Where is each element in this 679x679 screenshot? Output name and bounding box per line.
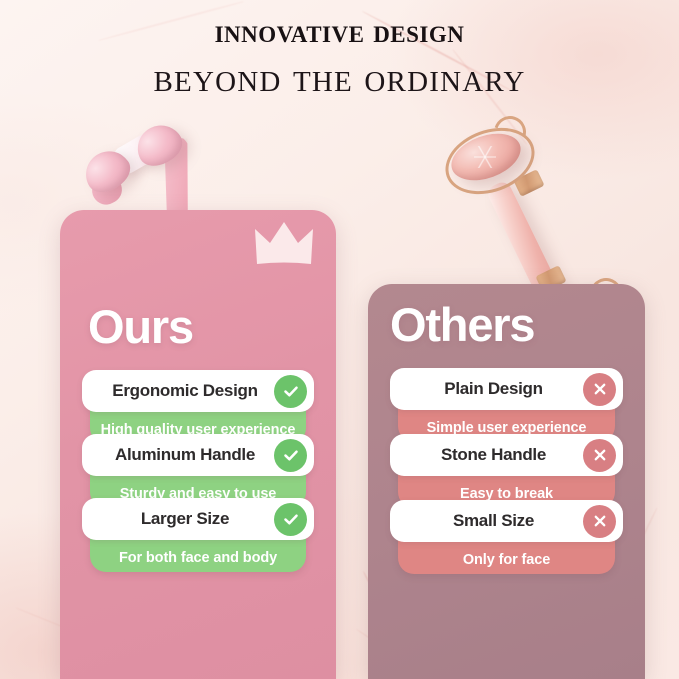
feature-label: Larger Size bbox=[82, 509, 274, 529]
feature-row: For both face and body Larger Size bbox=[82, 498, 314, 540]
feature-pill: Stone Handle bbox=[390, 434, 623, 476]
feature-list-others: Simple user experience Plain Design Easy… bbox=[390, 368, 623, 566]
infographic-canvas: Innovative Design Beyond the ordinary Ou… bbox=[0, 0, 679, 679]
headline-secondary: Beyond the ordinary bbox=[0, 53, 679, 101]
crown-icon bbox=[254, 220, 314, 266]
feature-pill: Aluminum Handle bbox=[82, 434, 314, 476]
feature-label: Plain Design bbox=[390, 379, 583, 399]
feature-pill: Ergonomic Design bbox=[82, 370, 314, 412]
feature-pill: Larger Size bbox=[82, 498, 314, 540]
comparison-card-others: Others Simple user experience Plain Desi… bbox=[368, 284, 645, 679]
quartz-sparkle bbox=[474, 146, 496, 168]
check-icon bbox=[274, 375, 307, 408]
feature-pill: Small Size bbox=[390, 500, 623, 542]
comparison-card-ours: Ours High quality user experience Ergono… bbox=[60, 210, 336, 679]
check-icon bbox=[274, 439, 307, 472]
headline-block: Innovative Design Beyond the ordinary bbox=[0, 14, 679, 101]
feature-label: Stone Handle bbox=[390, 445, 583, 465]
cross-icon bbox=[583, 505, 616, 538]
headline-primary: Innovative Design bbox=[0, 14, 679, 51]
feature-row: Simple user experience Plain Design bbox=[390, 368, 623, 410]
feature-label: Ergonomic Design bbox=[82, 381, 274, 401]
card-title-ours: Ours bbox=[88, 303, 193, 350]
check-icon bbox=[274, 503, 307, 536]
feature-label: Small Size bbox=[390, 511, 583, 531]
feature-label: Aluminum Handle bbox=[82, 445, 274, 465]
feature-list-ours: High quality user experience Ergonomic D… bbox=[82, 370, 314, 562]
feature-pill: Plain Design bbox=[390, 368, 623, 410]
cross-icon bbox=[583, 373, 616, 406]
cross-icon bbox=[583, 439, 616, 472]
card-title-others: Others bbox=[390, 301, 534, 348]
feature-row: Sturdy and easy to use Aluminum Handle bbox=[82, 434, 314, 476]
feature-row: Only for face Small Size bbox=[390, 500, 623, 542]
feature-row: High quality user experience Ergonomic D… bbox=[82, 370, 314, 412]
feature-row: Easy to break Stone Handle bbox=[390, 434, 623, 476]
